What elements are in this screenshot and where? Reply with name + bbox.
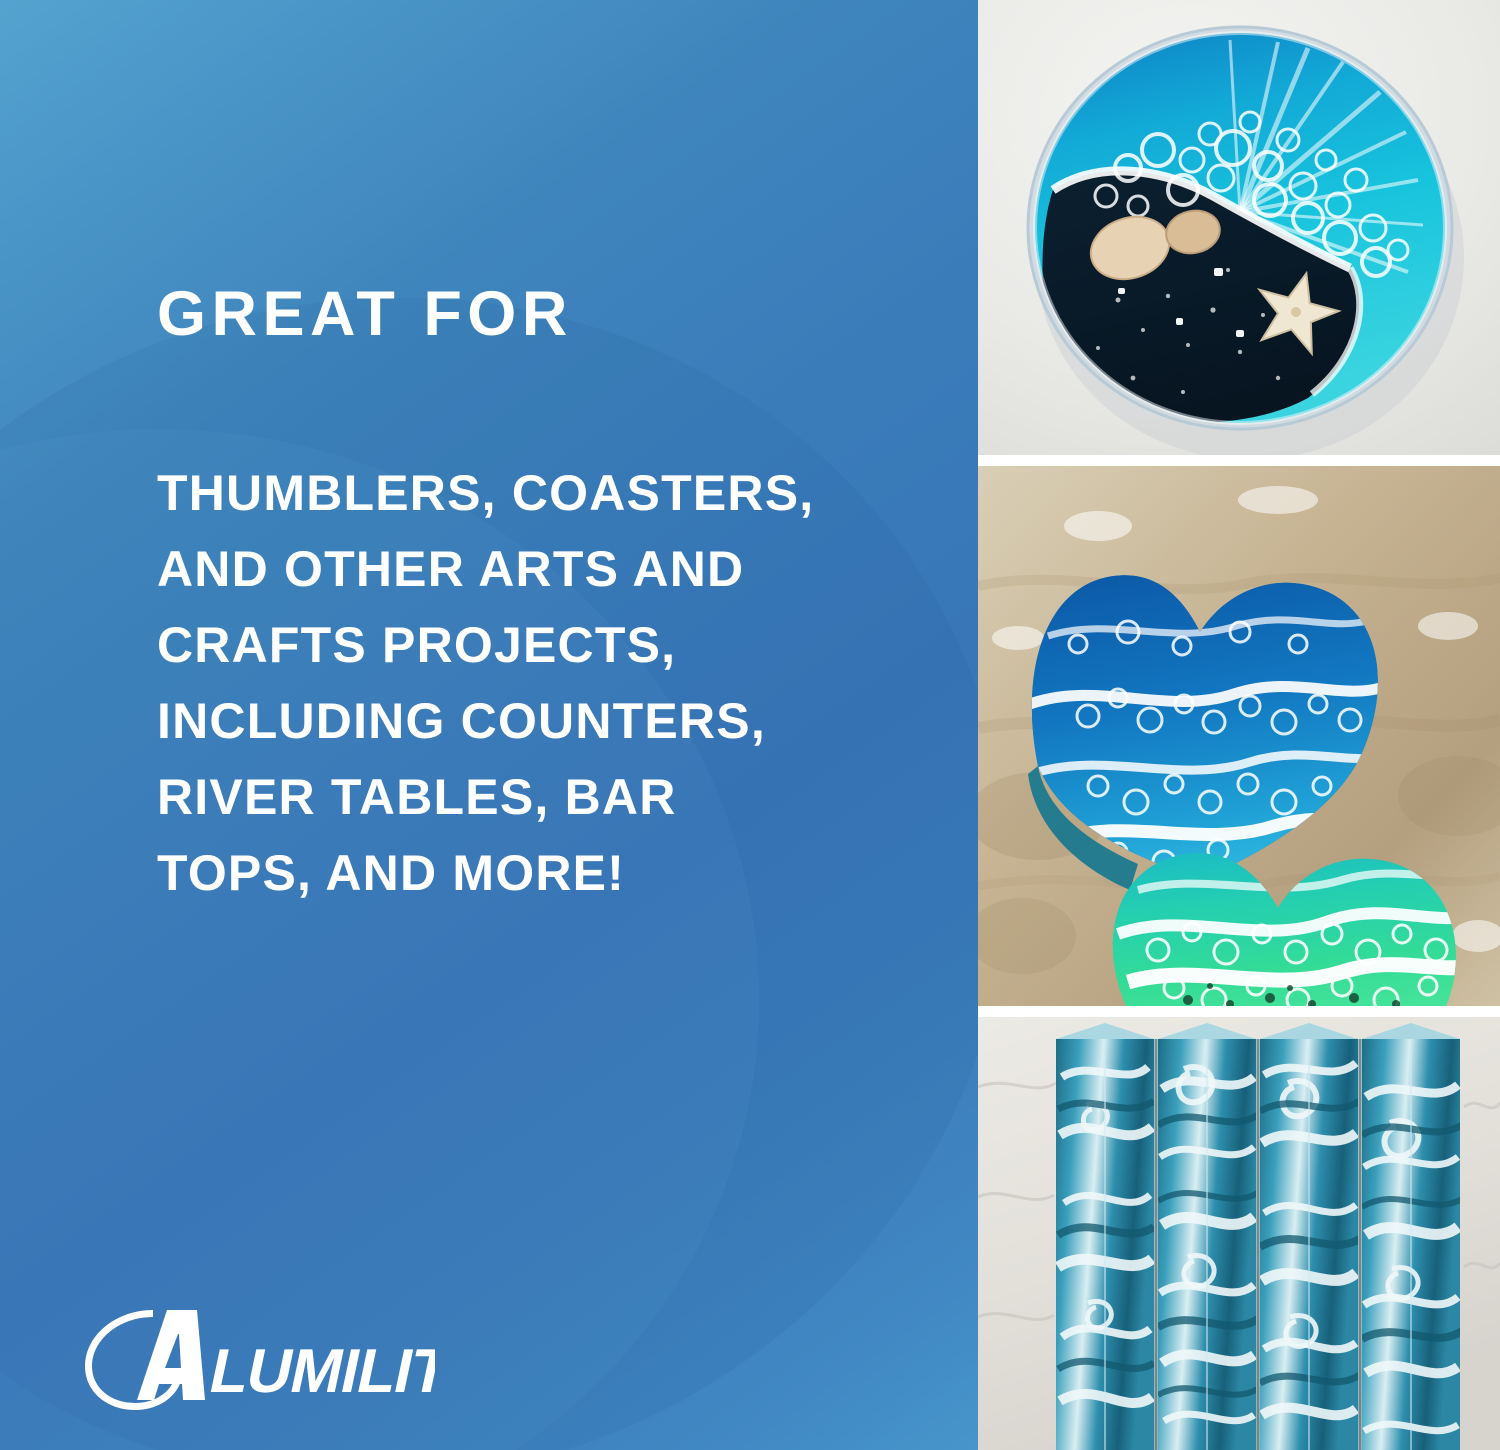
left-copy-panel: GREAT FOR THUMBLERS, COASTERS, AND OTHER…	[0, 0, 978, 1450]
product-photo-column	[978, 0, 1500, 1450]
photo-heart-boards	[978, 466, 1500, 1006]
page-title: GREAT FOR	[157, 282, 857, 348]
svg-text:LUMILITE: LUMILITE	[204, 1337, 435, 1406]
subcopy-text: THUMBLERS, COASTERS, AND OTHER ARTS AND …	[157, 455, 817, 911]
headline-block: GREAT FOR	[157, 282, 857, 348]
photo-round-coaster	[978, 0, 1500, 455]
poster-canvas: GREAT FOR THUMBLERS, COASTERS, AND OTHER…	[0, 0, 1500, 1450]
photo-pen-blanks	[978, 1017, 1500, 1450]
logo-wordmark: LUMILITE	[204, 1337, 435, 1406]
brand-logo: LUMILITE	[75, 1296, 435, 1414]
